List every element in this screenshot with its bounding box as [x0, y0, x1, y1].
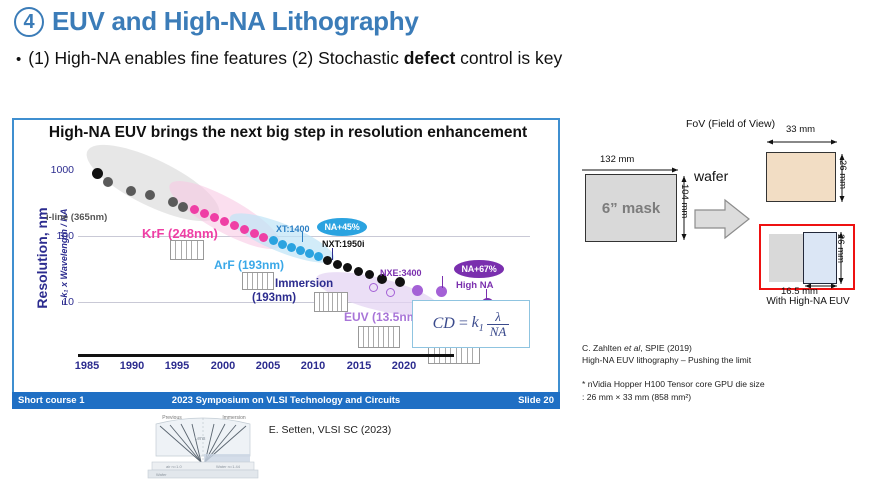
- data-point: [178, 202, 188, 212]
- x-axis-line: [78, 354, 454, 357]
- data-point: [287, 243, 296, 252]
- data-point: [103, 177, 113, 187]
- footer-course-label: Short course 1: [18, 395, 85, 406]
- y-tick-100: 100: [34, 230, 74, 242]
- footer-conference-label: 2023 Symposium on VLSI Technology and Ci…: [12, 395, 560, 406]
- svg-text:Wafer: Wafer: [156, 472, 167, 477]
- data-point: [395, 277, 405, 287]
- x-tick-1985: 1985: [64, 360, 110, 372]
- y-tick-1000: 1000: [34, 164, 74, 176]
- slide-title-text: EUV and High-NA Lithography: [52, 6, 418, 37]
- formula-equals: =: [458, 315, 469, 333]
- fov-width-label: 33 mm: [786, 124, 815, 135]
- data-point: [230, 221, 239, 230]
- svg-text:air n=1.0: air n=1.0: [166, 464, 182, 469]
- fov-standard-rect: [766, 152, 836, 202]
- citation-etal: et al: [624, 343, 640, 353]
- callout-nxt1950i: NXT:1950i: [322, 239, 365, 249]
- x-tick-2010: 2010: [290, 360, 336, 372]
- badge-na-67: NA+67%: [454, 260, 504, 278]
- data-point: [296, 246, 305, 255]
- schematic-glyph-arf: [242, 272, 274, 290]
- resolution-roadmap-chart: High-NA EUV brings the next big step in …: [12, 118, 560, 408]
- mask-width-label: 132 mm: [600, 154, 634, 165]
- formula-fraction: λ NA: [487, 310, 510, 338]
- fov-height-label: 26 mm: [837, 160, 848, 189]
- citation-spacer: [582, 366, 765, 378]
- fov-title: FoV (Field of View): [686, 118, 775, 130]
- x-tick-1990: 1990: [109, 360, 155, 372]
- data-point: [250, 229, 259, 238]
- citation-line-3: * nVidia Hopper H100 Tensor core GPU die…: [582, 378, 765, 390]
- bullet-part-2: control is key: [455, 48, 562, 68]
- data-point: [168, 197, 178, 207]
- citation-line-2: High-NA EUV lithography – Pushing the li…: [582, 354, 765, 366]
- formula-k1: k1: [472, 314, 484, 334]
- series-label-arf-immersion-wavelength: (193nm): [252, 292, 296, 304]
- data-point: [354, 267, 363, 276]
- citation-block: C. Zahlten et al, SPIE (2019) High-NA EU…: [582, 342, 765, 403]
- mask-height-label: 104 mm: [679, 184, 690, 218]
- series-label-krf: KrF (248nm): [142, 226, 218, 241]
- immersion-schematic-inset: Previous Immersion Lens air n=1.0 Water …: [138, 410, 268, 482]
- callout-nxe3400: NXE:3400: [380, 268, 422, 278]
- schematic-glyph-euv: [358, 326, 400, 348]
- high-na-masked-region: [769, 234, 805, 282]
- bullet-marker-icon: •: [16, 52, 21, 67]
- citation-line-4: : 26 mm × 33 mm (858 mm²): [582, 391, 765, 403]
- high-na-exposed-field: [803, 232, 837, 284]
- callout-xt1400: XT:1400: [276, 224, 310, 234]
- data-point: [240, 225, 249, 234]
- data-point: [200, 209, 209, 218]
- data-point-open: [386, 288, 395, 297]
- footer-slide-number: Slide 20: [518, 395, 554, 406]
- bullet-line: (1) High-NA enables fine features (2) St…: [28, 48, 562, 69]
- data-point: [278, 240, 287, 249]
- slide-number-badge: 4: [14, 7, 44, 37]
- x-tick-2005: 2005: [245, 360, 291, 372]
- data-point: [259, 233, 268, 242]
- data-point: [145, 190, 155, 200]
- series-label-euv: EUV (13.5nm): [344, 310, 421, 324]
- series-label-arf: ArF (193nm): [214, 258, 284, 272]
- wafer-arrow-icon: [693, 198, 751, 240]
- fov-width-arrow-icon: [764, 138, 840, 146]
- leader-line-xt: [302, 232, 303, 242]
- cd-formula-box: CD = k1 λ NA: [412, 300, 530, 348]
- data-point: [269, 236, 278, 245]
- data-point: [343, 263, 352, 272]
- formula-lhs: CD: [433, 315, 455, 333]
- source-attribution: E. Setten, VLSI SC (2023): [0, 424, 660, 436]
- series-label-iline: i-line (365nm): [46, 212, 107, 223]
- high-na-caption: With High-NA EUV: [750, 296, 866, 307]
- data-point: [412, 285, 423, 296]
- y-tick-10: 10: [34, 296, 74, 308]
- data-point: [126, 186, 136, 196]
- bullet-emphasis: defect: [404, 48, 456, 68]
- leader-line-nxt: [332, 248, 333, 260]
- leader-line-nxe: [442, 276, 443, 288]
- x-tick-1995: 1995: [154, 360, 200, 372]
- page-title: 4 EUV and High-NA Lithography: [14, 6, 418, 37]
- x-tick-2015: 2015: [336, 360, 382, 372]
- data-point: [314, 252, 323, 261]
- formula-k-subscript: 1: [479, 323, 484, 334]
- formula-k: k: [472, 314, 479, 331]
- data-point-open: [369, 283, 378, 292]
- schematic-glyph-arf-immersion: [314, 292, 348, 312]
- badge-na-45: NA+45%: [317, 218, 367, 236]
- data-point: [333, 260, 342, 269]
- data-point: [365, 270, 374, 279]
- citation-line-1: C. Zahlten et al, SPIE (2019): [582, 342, 765, 354]
- cd-formula: CD = k1 λ NA: [433, 310, 510, 338]
- mask-to-fov-diagram: FoV (Field of View) 132 mm 6” mask 104 m…: [578, 112, 884, 445]
- mask-width-arrow-icon: [580, 166, 682, 174]
- slide-footer-bar: Short course 1 2023 Symposium on VLSI Te…: [12, 392, 560, 409]
- callout-high-na: High NA: [456, 280, 493, 291]
- data-point: [220, 217, 229, 226]
- data-point: [190, 205, 199, 214]
- x-tick-2000: 2000: [200, 360, 246, 372]
- x-tick-2020: 2020: [381, 360, 427, 372]
- wafer-label: wafer: [694, 168, 728, 184]
- mask-rect: 6” mask: [585, 174, 677, 242]
- svg-text:Water n=1.44: Water n=1.44: [216, 464, 241, 469]
- data-point: [92, 168, 103, 179]
- citation-author: C. Zahlten: [582, 343, 624, 353]
- data-point: [323, 256, 332, 265]
- citation-venue: , SPIE (2019): [640, 343, 692, 353]
- data-point: [210, 213, 219, 222]
- formula-denominator: NA: [487, 324, 510, 339]
- schematic-glyph-krf: [170, 240, 204, 260]
- leader-line-highna: [486, 289, 487, 299]
- chart-plot-area: Resolution, nm = k₁ x Wavelength / NA 10…: [14, 120, 558, 406]
- data-point: [305, 249, 314, 258]
- svg-text:Lens: Lens: [195, 436, 206, 442]
- bullet-part-1: (1) High-NA enables fine features (2) St…: [28, 48, 403, 68]
- slide-bullet: • (1) High-NA enables fine features (2) …: [16, 48, 562, 69]
- high-na-height-label: 26 mm: [835, 234, 846, 263]
- formula-numerator: λ: [492, 310, 504, 324]
